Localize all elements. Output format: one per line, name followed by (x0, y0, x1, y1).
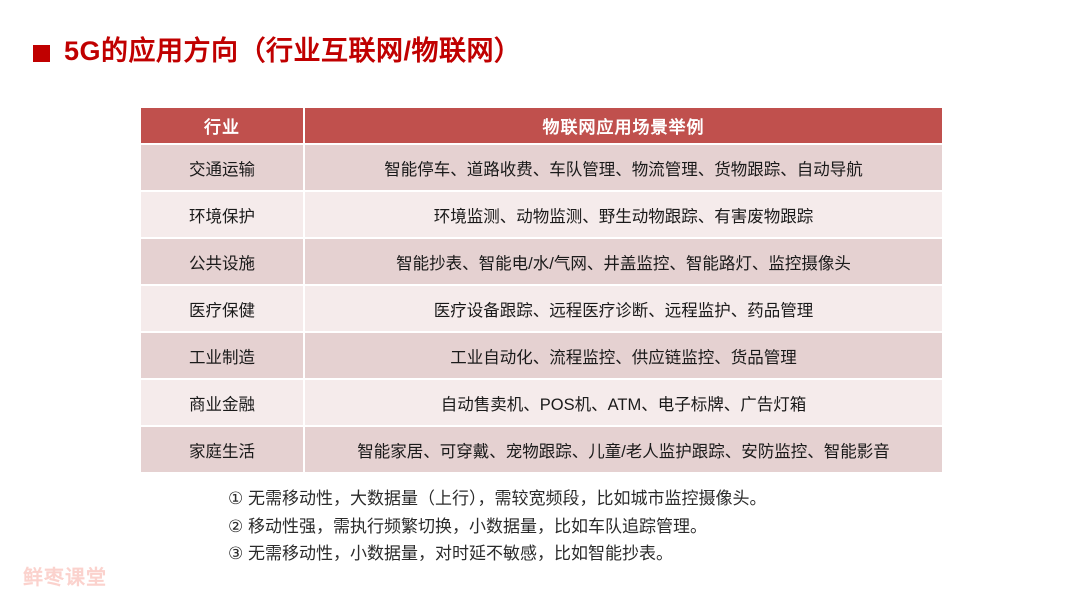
table-row: 工业制造 工业自动化、流程监控、供应链监控、货品管理 (141, 333, 942, 380)
page-title: 5G的应用方向（行业互联网/物联网） (33, 38, 522, 65)
cell-industry: 工业制造 (141, 333, 305, 380)
cell-industry: 环境保护 (141, 192, 305, 239)
iot-scenarios-table-container: 行业 物联网应用场景举例 交通运输 智能停车、道路收费、车队管理、物流管理、货物… (141, 108, 942, 472)
table-row: 医疗保健 医疗设备跟踪、远程医疗诊断、远程监护、药品管理 (141, 286, 942, 333)
table-row: 环境保护 环境监测、动物监测、野生动物跟踪、有害废物跟踪 (141, 192, 942, 239)
table-row: 交通运输 智能停车、道路收费、车队管理、物流管理、货物跟踪、自动导航 (141, 145, 942, 192)
cell-examples: 智能抄表、智能电/水/气网、井盖监控、智能路灯、监控摄像头 (305, 239, 942, 286)
table-header: 行业 物联网应用场景举例 (141, 108, 942, 145)
table-header-row: 行业 物联网应用场景举例 (141, 108, 942, 145)
iot-scenarios-table: 行业 物联网应用场景举例 交通运输 智能停车、道路收费、车队管理、物流管理、货物… (141, 108, 942, 472)
table-row: 公共设施 智能抄表、智能电/水/气网、井盖监控、智能路灯、监控摄像头 (141, 239, 942, 286)
cell-industry: 公共设施 (141, 239, 305, 286)
watermark-logo: 鲜枣课堂 (23, 568, 107, 588)
footnotes-block: ① 无需移动性，大数据量（上行），需较宽频段，比如城市监控摄像头。 ② 移动性强… (228, 485, 766, 568)
table-row: 商业金融 自动售卖机、POS机、ATM、电子标牌、广告灯箱 (141, 380, 942, 427)
cell-industry: 医疗保健 (141, 286, 305, 333)
table-body: 交通运输 智能停车、道路收费、车队管理、物流管理、货物跟踪、自动导航 环境保护 … (141, 145, 942, 472)
column-header-industry: 行业 (141, 108, 305, 145)
cell-examples: 工业自动化、流程监控、供应链监控、货品管理 (305, 333, 942, 380)
footnote-line-2: ② 移动性强，需执行频繁切换，小数据量，比如车队追踪管理。 (228, 513, 766, 541)
footnote-line-3: ③ 无需移动性，小数据量，对时延不敏感，比如智能抄表。 (228, 540, 766, 568)
table-row: 家庭生活 智能家居、可穿戴、宠物跟踪、儿童/老人监护跟踪、安防监控、智能影音 (141, 427, 942, 472)
cell-examples: 环境监测、动物监测、野生动物跟踪、有害废物跟踪 (305, 192, 942, 239)
footnote-line-1: ① 无需移动性，大数据量（上行），需较宽频段，比如城市监控摄像头。 (228, 485, 766, 513)
cell-examples: 智能家居、可穿戴、宠物跟踪、儿童/老人监护跟踪、安防监控、智能影音 (305, 427, 942, 472)
square-bullet-icon (33, 45, 50, 62)
cell-industry: 商业金融 (141, 380, 305, 427)
cell-examples: 智能停车、道路收费、车队管理、物流管理、货物跟踪、自动导航 (305, 145, 942, 192)
cell-industry: 交通运输 (141, 145, 305, 192)
page-title-text: 5G的应用方向（行业互联网/物联网） (64, 38, 522, 65)
cell-industry: 家庭生活 (141, 427, 305, 472)
cell-examples: 自动售卖机、POS机、ATM、电子标牌、广告灯箱 (305, 380, 942, 427)
cell-examples: 医疗设备跟踪、远程医疗诊断、远程监护、药品管理 (305, 286, 942, 333)
column-header-examples: 物联网应用场景举例 (305, 108, 942, 145)
